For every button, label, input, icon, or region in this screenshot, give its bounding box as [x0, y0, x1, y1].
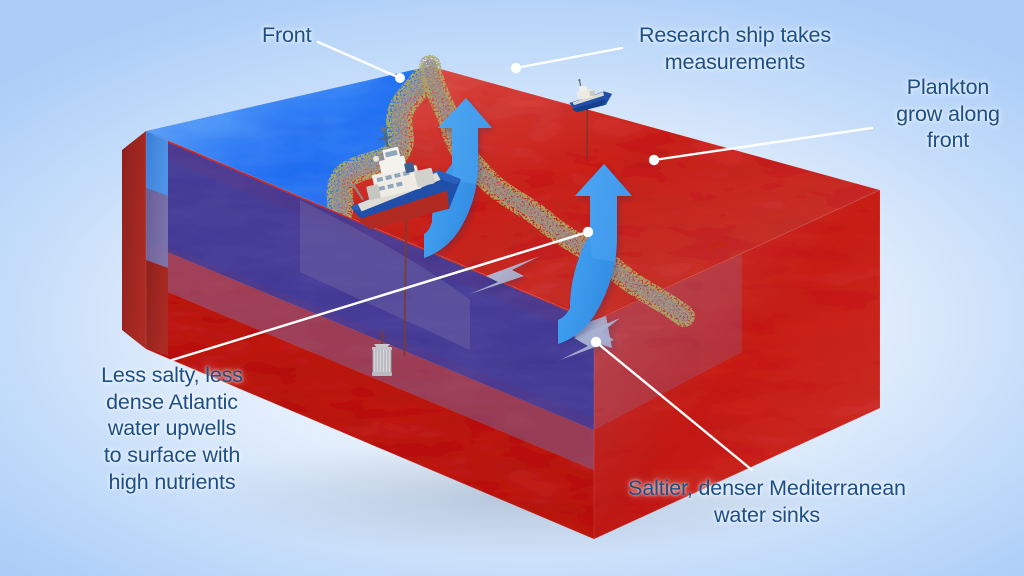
label-sinking: Saltier, denser Mediterranean water sink…: [600, 475, 934, 528]
left-edge-blue-layer: [146, 131, 168, 196]
label-research-ship: Research ship takes measurements: [626, 22, 844, 75]
leader-dot-plankton: [649, 155, 659, 165]
leader-dot-front: [395, 73, 405, 83]
leader-dot-research-ship: [511, 63, 521, 73]
label-front: Front: [262, 22, 311, 49]
label-upwelling: Less salty, less dense Atlantic water up…: [84, 362, 260, 495]
leader-dot-sinking: [591, 337, 601, 347]
label-plankton: Plankton grow along front: [876, 74, 1020, 154]
block-left-end-face: [122, 131, 146, 349]
diagram-canvas: Front Research ship takes measurements P…: [0, 0, 1024, 576]
left-edge-purple-layer: [146, 188, 168, 268]
leader-dot-upwelling: [583, 227, 593, 237]
leader-line-research-ship: [516, 48, 622, 68]
leader-line-front: [318, 42, 400, 78]
